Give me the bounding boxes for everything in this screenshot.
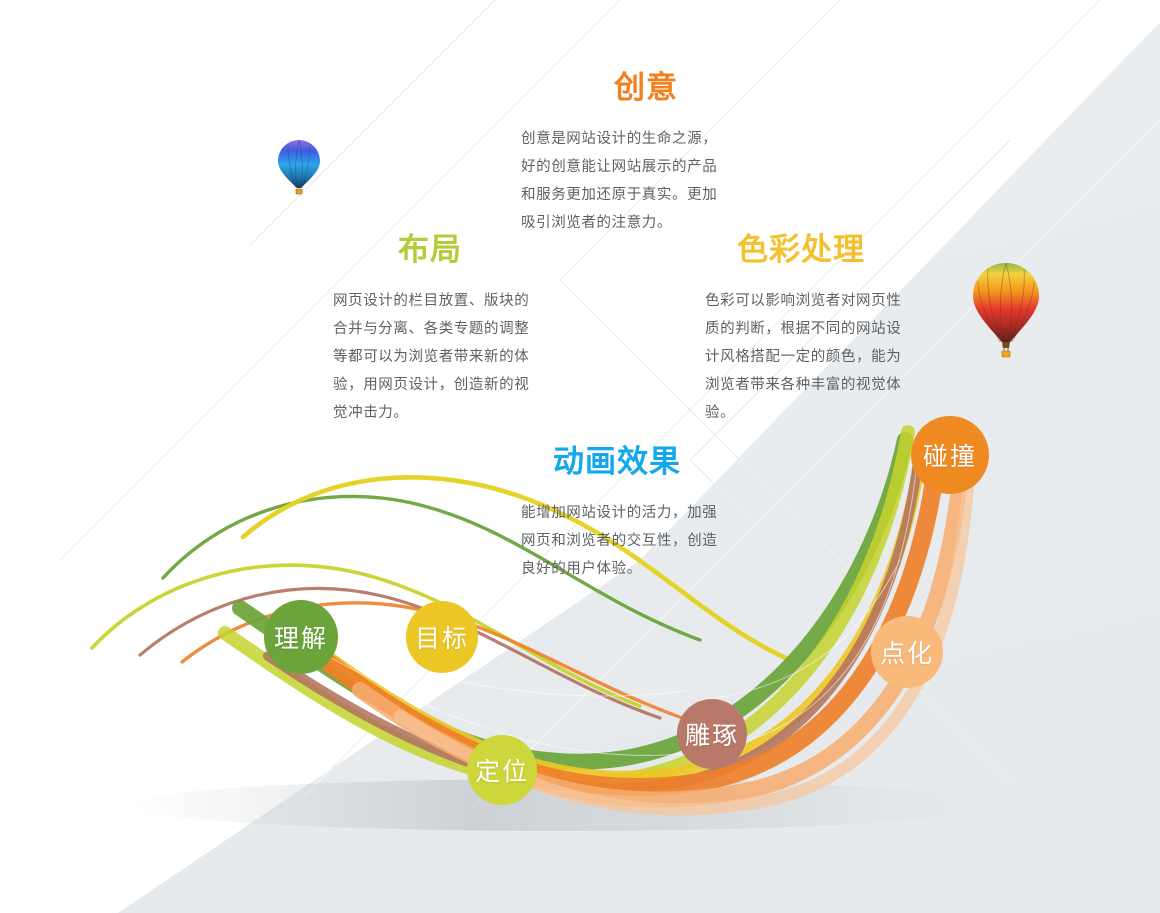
section-body: 能增加网站设计的活力，加强网页和浏览者的交互性，创造良好的用户体验。: [521, 499, 726, 583]
infographic-stage: 理解 目标 定位 雕琢 点化 碰撞: [0, 0, 1160, 913]
section-animation: 动画效果 能增加网站设计的活力，加强网页和浏览者的交互性，创造良好的用户体验。: [521, 446, 726, 583]
balloon-blue-icon: [276, 138, 322, 198]
node-carve[interactable]: 雕琢: [677, 699, 747, 769]
node-label: 点化: [880, 634, 934, 670]
node-collision[interactable]: 碰撞: [911, 416, 989, 494]
node-position[interactable]: 定位: [467, 735, 537, 805]
node-label: 雕琢: [685, 716, 739, 752]
node-label: 定位: [475, 752, 529, 788]
section-heading: 创意: [571, 72, 721, 103]
section-body: 色彩可以影响浏览者对网页性质的判断，根据不同的网站设计风格搭配一定的颜色，能为浏…: [705, 287, 910, 427]
section-heading: 动画效果: [553, 446, 726, 477]
section-layout: 布局 网页设计的栏目放置、版块的合并与分离、各类专题的调整等都可以为浏览者带来新…: [333, 234, 533, 427]
node-label: 碰撞: [923, 437, 977, 473]
section-creative: 创意 创意是网站设计的生命之源，好的创意能让网站展示的产品和服务更加还原于真实。…: [521, 72, 721, 237]
node-dotting[interactable]: 点化: [871, 616, 943, 688]
section-heading: 色彩处理: [737, 234, 910, 265]
section-body: 创意是网站设计的生命之源，好的创意能让网站展示的产品和服务更加还原于真实。更加吸…: [521, 125, 721, 237]
node-label: 目标: [415, 619, 469, 655]
node-understand[interactable]: 理解: [264, 600, 338, 674]
section-heading: 布局: [398, 234, 533, 265]
section-color: 色彩处理 色彩可以影响浏览者对网页性质的判断，根据不同的网站设计风格搭配一定的颜…: [705, 234, 910, 427]
node-goal[interactable]: 目标: [406, 601, 478, 673]
section-body: 网页设计的栏目放置、版块的合并与分离、各类专题的调整等都可以为浏览者带来新的体验…: [333, 287, 533, 427]
balloon-red-icon: [970, 260, 1042, 358]
node-label: 理解: [274, 619, 328, 655]
